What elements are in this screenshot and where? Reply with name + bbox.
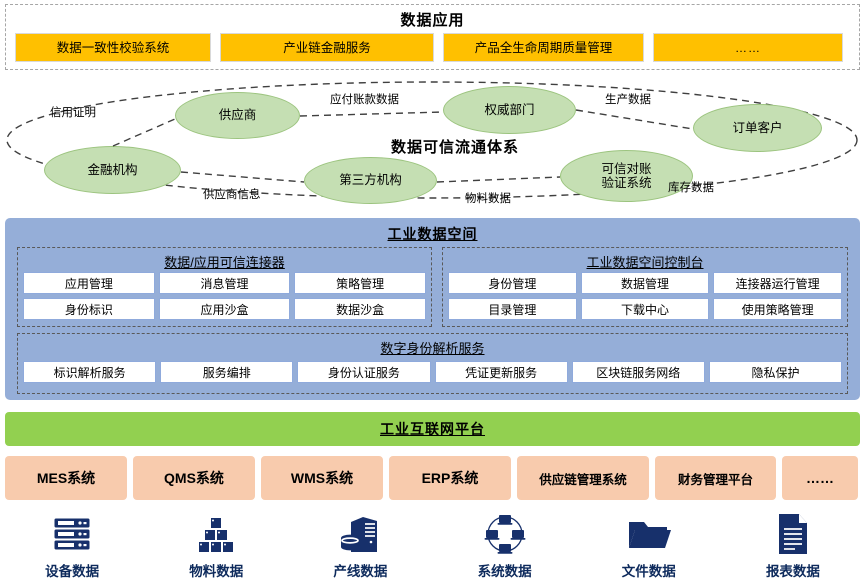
identity-row-1: 标识解析服务 服务编排 身份认证服务 凭证更新服务 区块链服务网络 隐私保护: [23, 361, 842, 383]
group-trusted-connector: 数据/应用可信连接器 应用管理 消息管理 策略管理 身份标识 应用沙盒 数据沙盒: [17, 247, 432, 327]
group-digital-identity-resolution-title: 数字身份解析服务: [18, 338, 847, 357]
system-box-supply-chain-management[interactable]: 供应链管理系统: [517, 456, 649, 500]
industrial-data-space-layer: 工业数据空间 数据/应用可信连接器 应用管理 消息管理 策略管理 身份标识 应用…: [5, 218, 860, 400]
connector-row-2: 身份标识 应用沙盒 数据沙盒: [23, 298, 426, 320]
node-third-party-label: 第三方机构: [339, 173, 402, 187]
server-rack-icon: [50, 510, 94, 558]
data-source-equipment-label: 设备数据: [45, 560, 99, 580]
cell-policy-management[interactable]: 策略管理: [294, 272, 426, 294]
cell-identity-authentication-service[interactable]: 身份认证服务: [297, 361, 430, 383]
data-source-file-label: 文件数据: [622, 560, 676, 580]
data-source-system-label: 系统数据: [478, 560, 532, 580]
data-source-icon-row: 设备数据: [0, 510, 865, 580]
node-order-customer[interactable]: 订单客户: [693, 104, 822, 152]
trusted-data-circulation-title: 数据可信流通体系: [360, 136, 550, 157]
cell-app-management[interactable]: 应用管理: [23, 272, 155, 294]
edge-label-credit-proof: 信用证明: [50, 104, 96, 120]
edge-label-production-data: 生产数据: [605, 91, 651, 107]
factory-database-icon: [338, 510, 382, 558]
group-digital-identity-resolution: 数字身份解析服务 标识解析服务 服务编排 身份认证服务 凭证更新服务 区块链服务…: [17, 333, 848, 394]
cell-data-management[interactable]: 数据管理: [581, 272, 710, 294]
system-box-financial-management[interactable]: 财务管理平台: [655, 456, 776, 500]
data-source-material-label: 物料数据: [189, 560, 243, 580]
edge-label-inventory-data: 库存数据: [668, 179, 714, 195]
data-source-report-label: 报表数据: [766, 560, 820, 580]
data-source-production-line: 产线数据: [288, 510, 432, 580]
cell-usage-policy-management[interactable]: 使用策略管理: [713, 298, 842, 320]
data-source-system: 系统数据: [433, 510, 577, 580]
system-box-more[interactable]: ……: [782, 456, 858, 500]
boxes-stack-icon: [194, 510, 238, 558]
network-nodes-icon: [482, 510, 528, 558]
data-application-box-list: 数据一致性校验系统 产业链金融服务 产品全生命周期质量管理 ……: [15, 33, 852, 62]
console-row-2: 目录管理 下载中心 使用策略管理: [448, 298, 842, 320]
data-source-report: 报表数据: [721, 510, 865, 580]
group-data-space-console: 工业数据空间控制台 身份管理 数据管理 连接器运行管理 目录管理 下载中心 使用…: [442, 247, 848, 327]
node-financial-institution-label: 金融机构: [87, 163, 137, 177]
data-source-production-line-label: 产线数据: [333, 560, 387, 580]
cell-identifier-resolution-service[interactable]: 标识解析服务: [23, 361, 156, 383]
node-trusted-reconciliation-label-line2: 验证系统: [601, 176, 651, 190]
node-financial-institution[interactable]: 金融机构: [44, 146, 181, 194]
connector-row-1: 应用管理 消息管理 策略管理: [23, 272, 426, 294]
node-authority-label: 权威部门: [484, 103, 534, 117]
app-box-more[interactable]: ……: [653, 33, 843, 62]
system-box-wms[interactable]: WMS系统: [261, 456, 383, 500]
node-order-customer-label: 订单客户: [732, 121, 782, 135]
data-application-layer: 数据应用 数据一致性校验系统 产业链金融服务 产品全生命周期质量管理 ……: [5, 4, 860, 70]
document-icon: [773, 510, 813, 558]
cell-app-sandbox[interactable]: 应用沙盒: [159, 298, 291, 320]
source-systems-row: MES系统 QMS系统 WMS系统 ERP系统 供应链管理系统 财务管理平台 ……: [5, 456, 860, 500]
edge-label-material-data: 物料数据: [465, 190, 511, 206]
edge-label-supplier-info: 供应商信息: [203, 186, 261, 202]
console-row-1: 身份管理 数据管理 连接器运行管理: [448, 272, 842, 294]
industrial-internet-platform-bar: 工业互联网平台: [5, 412, 860, 446]
cell-privacy-protection[interactable]: 隐私保护: [709, 361, 842, 383]
folder-icon: [626, 510, 672, 558]
cell-data-sandbox[interactable]: 数据沙盒: [294, 298, 426, 320]
data-source-equipment: 设备数据: [0, 510, 144, 580]
cell-message-management[interactable]: 消息管理: [159, 272, 291, 294]
cell-credential-update-service[interactable]: 凭证更新服务: [435, 361, 568, 383]
system-box-mes[interactable]: MES系统: [5, 456, 127, 500]
cell-service-orchestration[interactable]: 服务编排: [160, 361, 293, 383]
node-trusted-reconciliation-label-line1: 可信对账: [601, 162, 651, 176]
app-box-product-lifecycle-quality[interactable]: 产品全生命周期质量管理: [443, 33, 644, 62]
app-box-data-consistency[interactable]: 数据一致性校验系统: [15, 33, 211, 62]
cell-catalog-management[interactable]: 目录管理: [448, 298, 577, 320]
group-data-space-console-title: 工业数据空间控制台: [443, 252, 847, 271]
cell-download-center[interactable]: 下载中心: [581, 298, 710, 320]
app-box-supply-chain-finance[interactable]: 产业链金融服务: [220, 33, 434, 62]
system-box-erp[interactable]: ERP系统: [389, 456, 511, 500]
edge-label-payable-data: 应付账款数据: [330, 91, 399, 107]
group-trusted-connector-title: 数据/应用可信连接器: [18, 252, 431, 271]
cell-identity-id[interactable]: 身份标识: [23, 298, 155, 320]
trusted-data-circulation-layer: 供应商 权威部门 订单客户 金融机构 第三方机构 可信对账 验证系统 数据可信流…: [0, 74, 865, 214]
data-source-material: 物料数据: [144, 510, 288, 580]
cell-blockchain-service-network[interactable]: 区块链服务网络: [572, 361, 705, 383]
cell-connector-runtime-management[interactable]: 连接器运行管理: [713, 272, 842, 294]
node-supplier[interactable]: 供应商: [175, 92, 300, 139]
industrial-data-space-title: 工业数据空间: [5, 224, 860, 244]
system-box-qms[interactable]: QMS系统: [133, 456, 255, 500]
node-supplier-label: 供应商: [219, 108, 257, 122]
cell-identity-management[interactable]: 身份管理: [448, 272, 577, 294]
node-third-party[interactable]: 第三方机构: [304, 157, 437, 204]
data-application-title: 数据应用: [6, 9, 859, 30]
industrial-internet-platform-title: 工业互联网平台: [380, 419, 485, 439]
node-authority[interactable]: 权威部门: [443, 86, 576, 134]
data-source-file: 文件数据: [577, 510, 721, 580]
